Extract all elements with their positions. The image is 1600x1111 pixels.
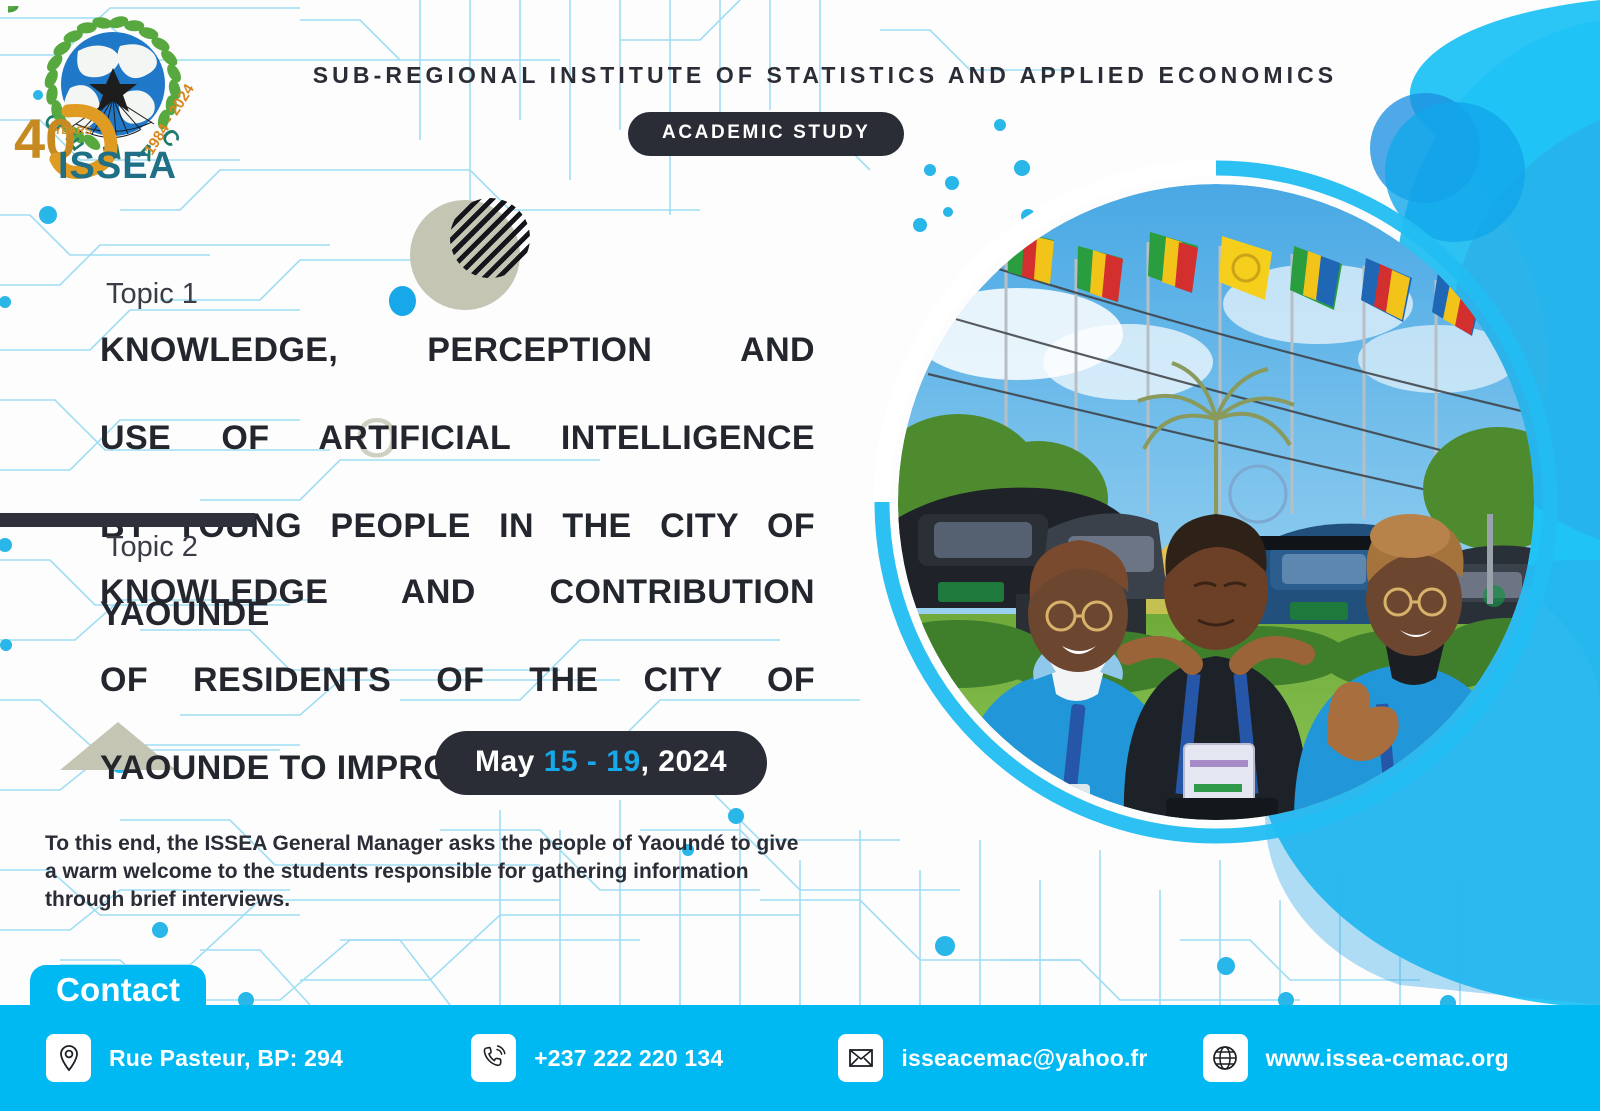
students-photo	[898, 184, 1534, 820]
logo-issea-text: ISSEA	[58, 145, 177, 186]
contact-website-text: www.issea-cemac.org	[1266, 1045, 1509, 1072]
study-dates-pill: May 15 - 19, 2024	[435, 731, 767, 795]
topic-divider-bar	[0, 513, 255, 527]
contact-email-text: isseacemac@yahoo.fr	[901, 1045, 1147, 1072]
announcement-paragraph: To this end, the ISSEA General Manager a…	[45, 830, 815, 914]
globe-icon	[1203, 1034, 1248, 1082]
topic-1-label: Topic 1	[106, 278, 198, 311]
date-day-end: 19	[606, 745, 640, 778]
academic-study-badge: ACADEMIC STUDY	[628, 112, 904, 156]
phone-icon	[471, 1034, 516, 1082]
blue-dot-decoration	[389, 286, 416, 316]
institute-title: SUB-REGIONAL INSTITUTE OF STATISTICS AND…	[275, 62, 1375, 89]
logo-anniversary-years: YEARS	[54, 125, 92, 137]
poster-root: C E M A C 40 YEARS 1984 - 2024 ISSEA SUB…	[0, 0, 1600, 1111]
envelope-icon	[838, 1034, 883, 1082]
date-month: May	[475, 745, 535, 778]
contact-item-phone[interactable]: +237 222 220 134	[471, 1034, 723, 1082]
date-day-start: 15	[544, 745, 578, 778]
contact-address-text: Rue Pasteur, BP: 294	[109, 1045, 343, 1072]
date-year: , 2024	[641, 745, 727, 778]
contact-row: Rue Pasteur, BP: 294 +237 222 220 134 is…	[0, 1005, 1600, 1111]
location-pin-icon	[46, 1034, 91, 1082]
contact-item-address[interactable]: Rue Pasteur, BP: 294	[46, 1034, 343, 1082]
contact-phone-text: +237 222 220 134	[534, 1045, 723, 1072]
contact-item-website[interactable]: www.issea-cemac.org	[1203, 1034, 1509, 1082]
date-separator: -	[587, 745, 598, 778]
contact-item-email[interactable]: isseacemac@yahoo.fr	[838, 1034, 1147, 1082]
topic-1-line-1: KNOWLEDGE, PERCEPTION AND	[100, 328, 815, 416]
topic-2-line-1: KNOWLEDGE AND CONTRIBUTION	[100, 570, 815, 658]
striped-circle-decoration	[450, 198, 530, 278]
topic-2-label: Topic 2	[106, 531, 198, 564]
topic-1-line-2: USE OF ARTIFICIAL INTELLIGENCE	[100, 416, 815, 504]
issea-cemac-logo: C E M A C 40 YEARS 1984 - 2024 ISSEA	[8, 6, 218, 186]
